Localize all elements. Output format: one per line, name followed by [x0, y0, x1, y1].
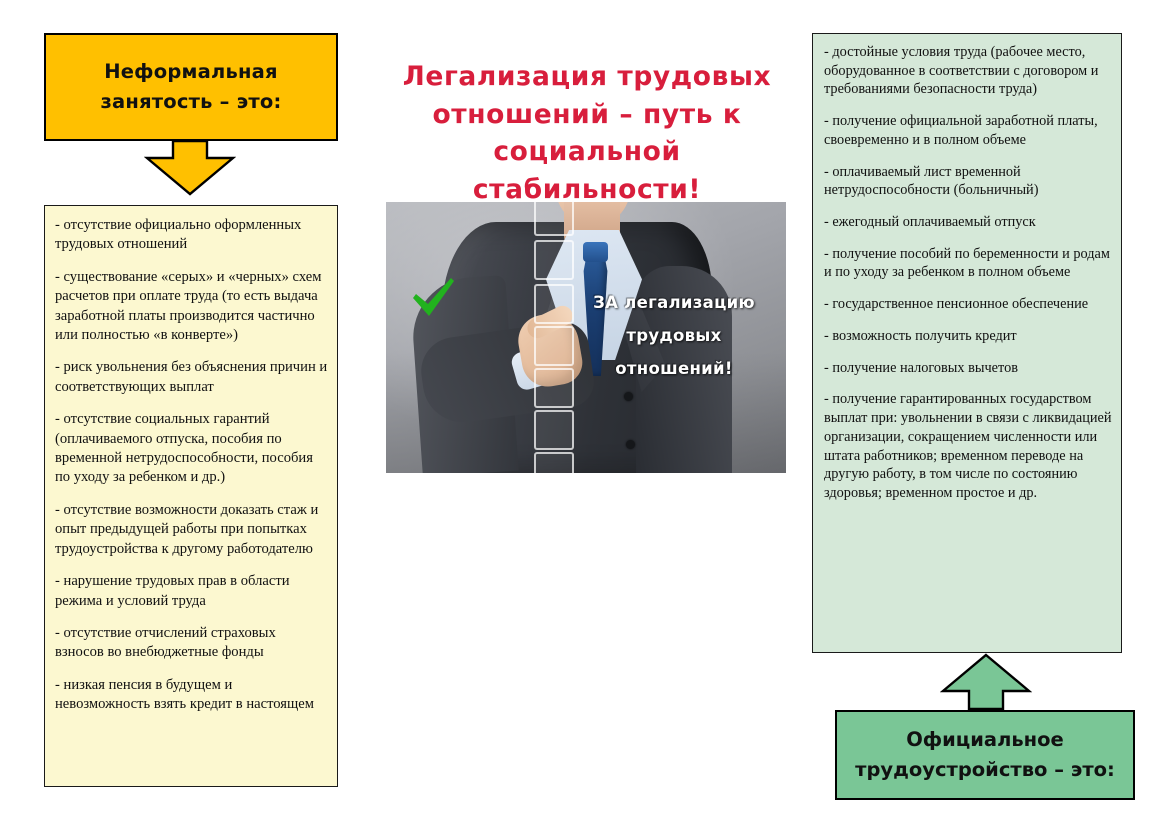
photo-caption-line-1: ЗА легализацию	[568, 286, 780, 319]
checkbox-icon	[534, 410, 574, 450]
photo-caption: ЗА легализацию трудовых отношений!	[568, 286, 780, 385]
list-item: - низкая пенсия в будущем и невозможност…	[55, 676, 328, 715]
list-item: - отсутствие социальных гарантий (оплачи…	[55, 410, 328, 488]
tie-knot	[583, 242, 608, 262]
page-title: Легализация трудовых отношений – путь к …	[378, 58, 796, 209]
informal-header-line-2: занятость – это:	[101, 87, 282, 117]
official-header-line-2: трудоустройство – это:	[855, 755, 1115, 785]
list-item: - отсутствие возможности доказать стаж и…	[55, 501, 328, 559]
checkbox-icon	[534, 240, 574, 280]
green-check-icon	[410, 276, 456, 322]
page-title-line-2: отношений – путь к	[378, 96, 796, 134]
list-item: - получение гарантированных государством…	[824, 390, 1113, 502]
informal-header-line-1: Неформальная	[101, 57, 282, 87]
list-item: - достойные условия труда (рабочее место…	[824, 43, 1113, 99]
list-item: - нарушение трудовых прав в области режи…	[55, 572, 328, 611]
checkbox-icon	[534, 452, 574, 473]
poster-canvas: Неформальная занятость – это: - отсутств…	[0, 0, 1169, 827]
list-item: - риск увольнения без объяснения причин …	[55, 358, 328, 397]
photo-caption-line-3: отношений!	[568, 352, 780, 385]
page-title-line-3: социальной стабильности!	[378, 133, 796, 208]
arrow-up-icon	[940, 653, 1032, 711]
list-item: - государственное пенсионное обеспечение	[824, 295, 1113, 314]
list-item: - отсутствие отчислений страховых взносо…	[55, 624, 328, 663]
informal-employment-list: - отсутствие официально оформленных труд…	[44, 205, 338, 787]
list-item: - ежегодный оплачиваемый отпуск	[824, 213, 1113, 232]
arrow-down-icon	[144, 141, 236, 196]
businessman-photo: ЗА легализацию трудовых отношений!	[386, 202, 786, 473]
list-item: - отсутствие официально оформленных труд…	[55, 216, 328, 255]
suit-button	[624, 392, 633, 401]
suit-button	[626, 440, 635, 449]
list-item: - оплачиваемый лист временной нетрудоспо…	[824, 163, 1113, 200]
page-title-line-1: Легализация трудовых	[378, 58, 796, 96]
list-item: - возможность получить кредит	[824, 327, 1113, 346]
official-header-line-1: Официальное	[855, 725, 1115, 755]
list-item: - получение официальной заработной платы…	[824, 112, 1113, 149]
official-employment-header: Официальное трудоустройство – это:	[835, 710, 1135, 800]
list-item: - получение пособий по беременности и ро…	[824, 245, 1113, 282]
informal-employment-header-text: Неформальная занятость – это:	[89, 57, 294, 117]
checkbox-icon	[534, 202, 574, 236]
official-employment-header-text: Официальное трудоустройство – это:	[849, 725, 1121, 785]
official-employment-list: - достойные условия труда (рабочее место…	[812, 33, 1122, 653]
informal-employment-header: Неформальная занятость – это:	[44, 33, 338, 141]
list-item: - получение налоговых вычетов	[824, 359, 1113, 378]
list-item: - существование «серых» и «черных» схем …	[55, 268, 328, 346]
photo-caption-line-2: трудовых	[568, 319, 780, 352]
